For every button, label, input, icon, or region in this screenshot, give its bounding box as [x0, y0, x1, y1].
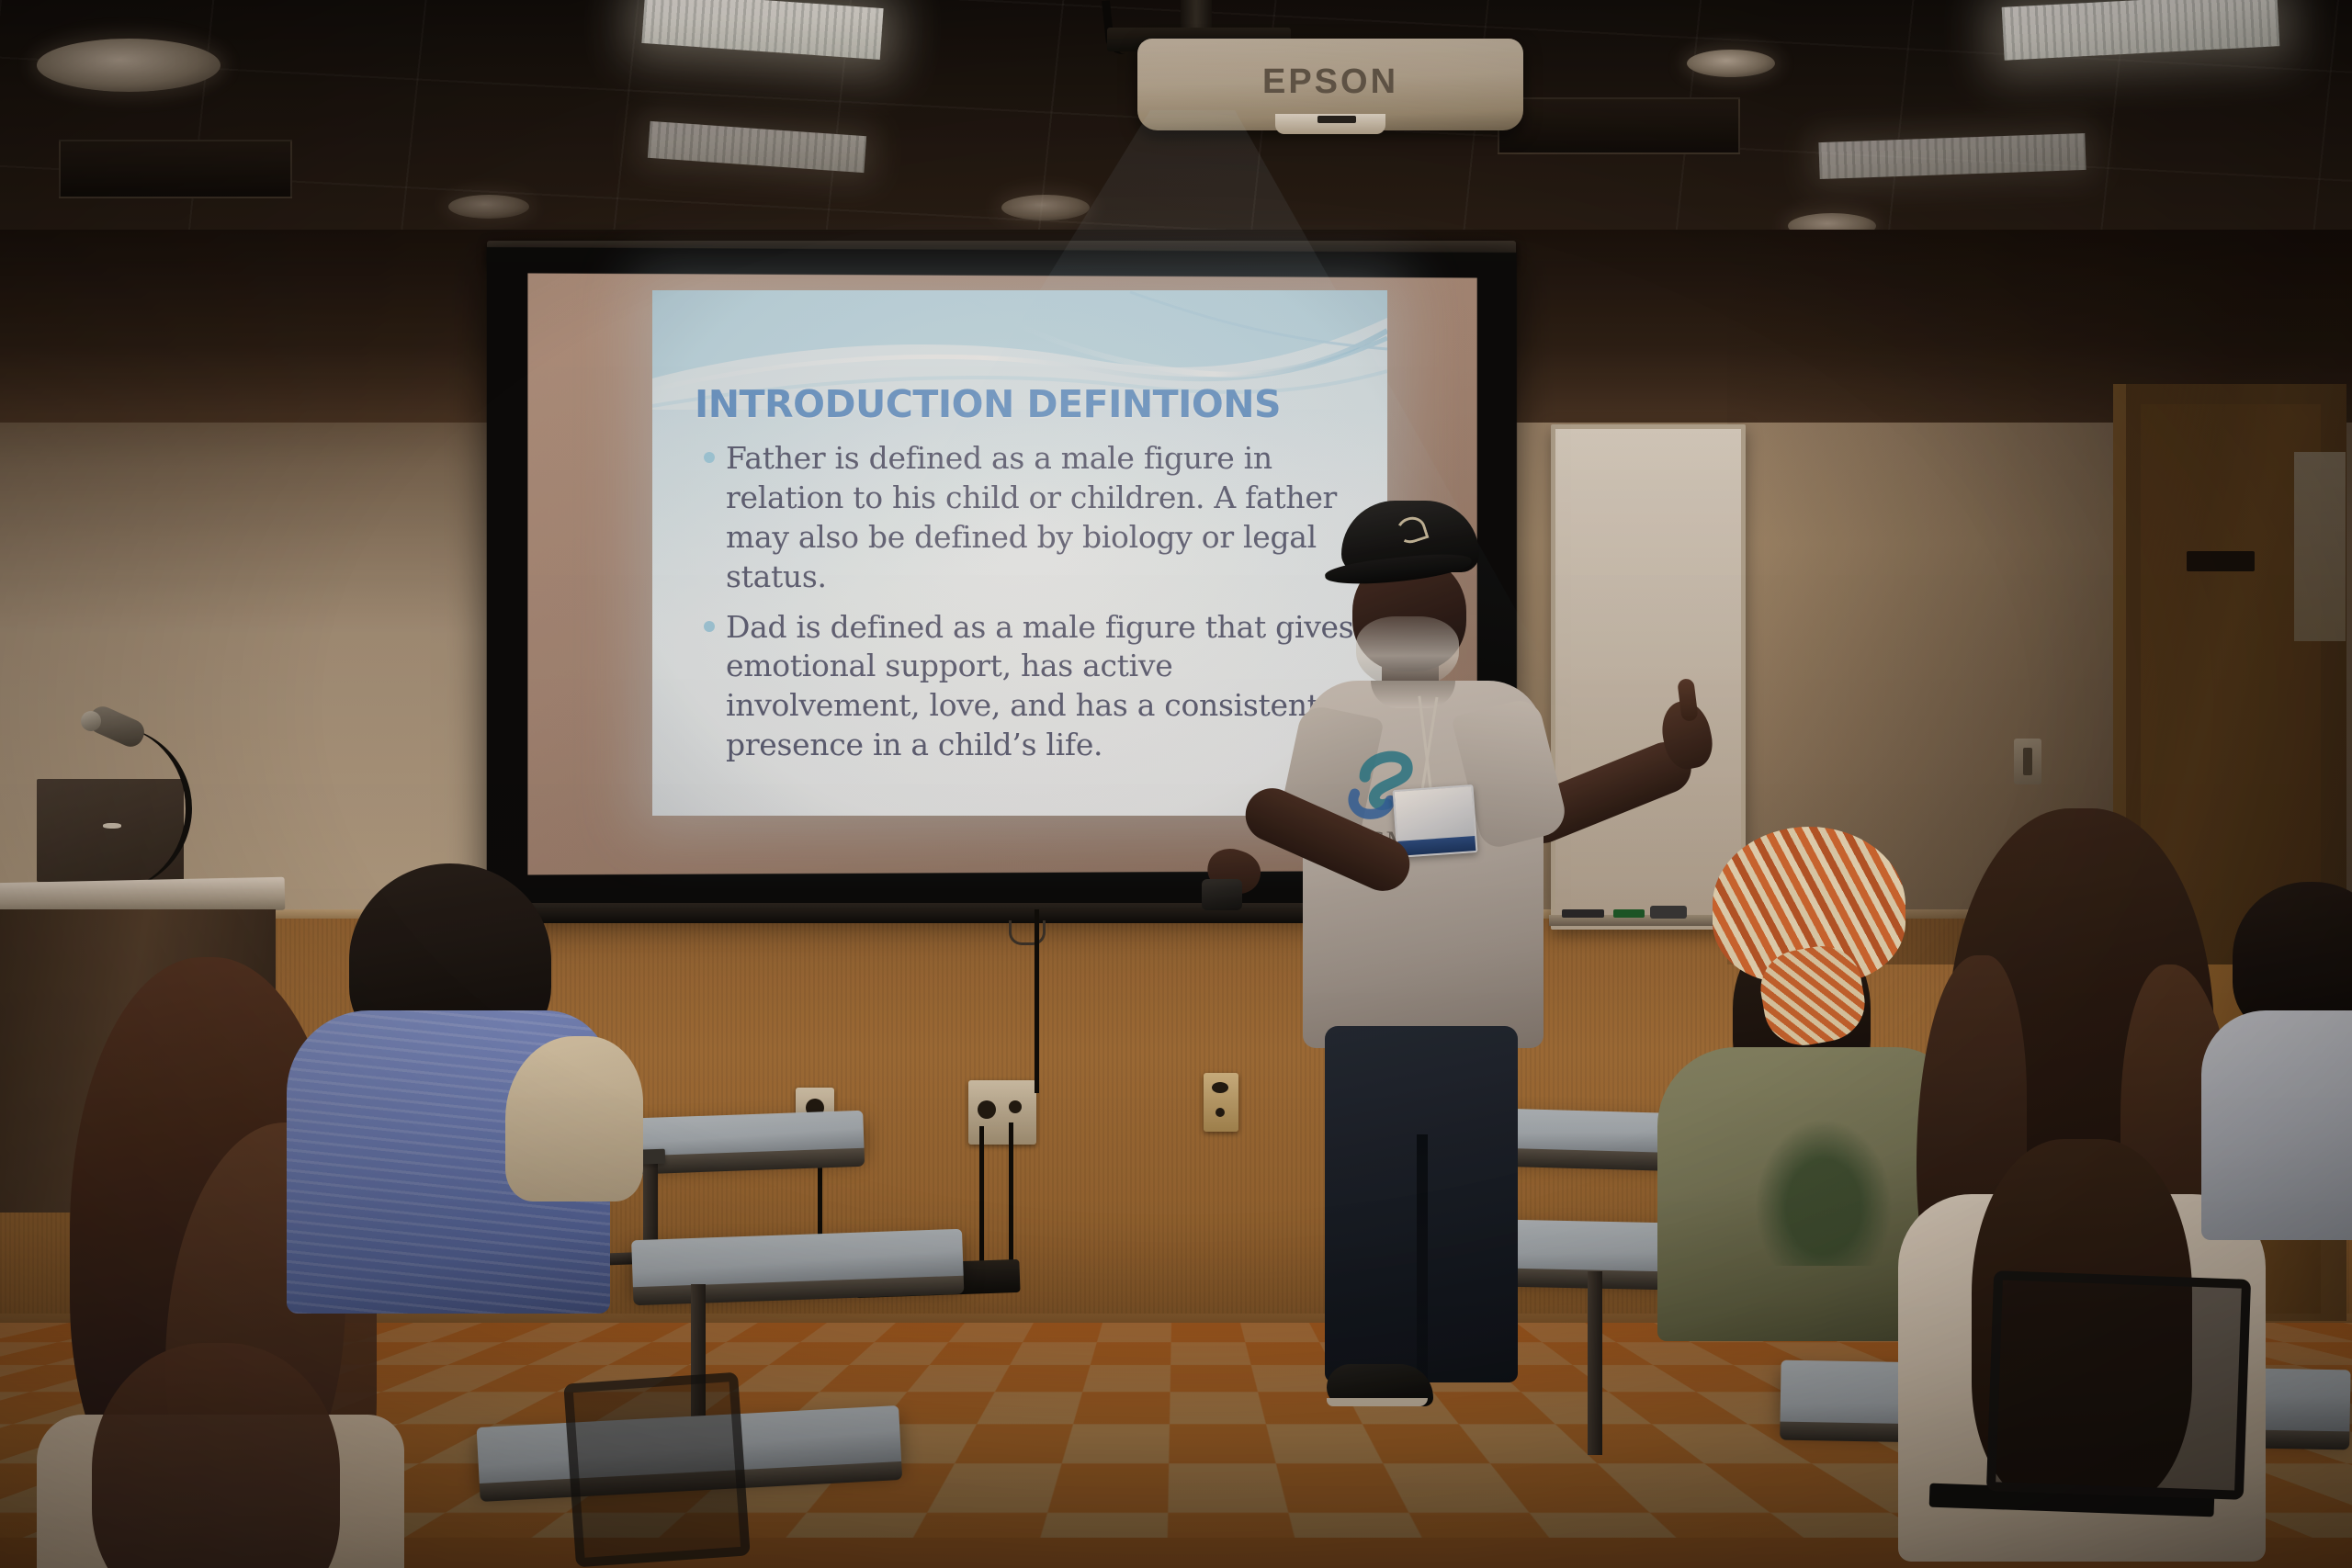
bullet-dot-icon — [704, 621, 715, 632]
projector-vent-slot — [1317, 116, 1356, 123]
chair-back-left — [563, 1372, 750, 1568]
slide-title: INTRODUCTION DEFINTIONS — [695, 382, 1356, 426]
hair-overlay — [92, 1343, 340, 1568]
chair-back-right — [1986, 1270, 2251, 1500]
outlet-socket — [1216, 1108, 1225, 1117]
desk-front-left-2 — [631, 1229, 964, 1292]
presentation-clicker[interactable] — [1202, 879, 1242, 910]
ceiling-air-vent-1 — [59, 140, 292, 198]
shoulder-beige — [505, 1036, 643, 1201]
recessed-light-4 — [1687, 50, 1775, 77]
projector-brand-label: EPSON — [1137, 62, 1523, 102]
outlet-socket — [1009, 1100, 1022, 1113]
recessed-light-3 — [1001, 195, 1090, 220]
audience-member-blue-shirt — [276, 863, 661, 1323]
presenter: ACMH — [1286, 501, 1681, 1433]
classroom-scene: EPSON — [0, 0, 2352, 1568]
slide-bullet-1-text: Father is defined as a male figure in re… — [726, 440, 1337, 594]
presenter-leg-split — [1417, 1134, 1428, 1382]
recessed-light-1 — [37, 39, 220, 92]
microphone-windscreen-icon — [81, 711, 101, 731]
slide-bullet-2: Dad is defined as a male figure that giv… — [700, 608, 1371, 766]
bullet-dot-icon — [704, 452, 715, 463]
outlet-socket — [978, 1100, 996, 1119]
recessed-light-2 — [448, 195, 529, 219]
name-badge — [1393, 784, 1478, 858]
power-cable-3 — [1009, 1122, 1041, 1279]
torso — [2201, 1010, 2352, 1240]
ceiling-air-vent-2 — [1498, 97, 1740, 154]
outlet-socket — [1212, 1082, 1228, 1093]
wall-outlet-3[interactable] — [1204, 1073, 1238, 1132]
presenter-beard — [1356, 616, 1459, 688]
power-cable-2 — [979, 1126, 995, 1279]
audience-member-far-right — [2205, 882, 2352, 1231]
presentation-slide: INTRODUCTION DEFINTIONS Father is define… — [652, 290, 1387, 816]
shirt-palm-print — [1755, 1119, 1893, 1266]
projector-drop-cable — [1035, 909, 1046, 1093]
slide-bullet-1: Father is defined as a male figure in re… — [700, 439, 1371, 597]
presenter-shoe — [1327, 1364, 1433, 1406]
slide-bullet-2-text: Dad is defined as a male figure that giv… — [726, 609, 1353, 763]
projector: EPSON — [1137, 39, 1523, 130]
slide-bullet-list: Father is defined as a male figure in re… — [700, 439, 1371, 776]
